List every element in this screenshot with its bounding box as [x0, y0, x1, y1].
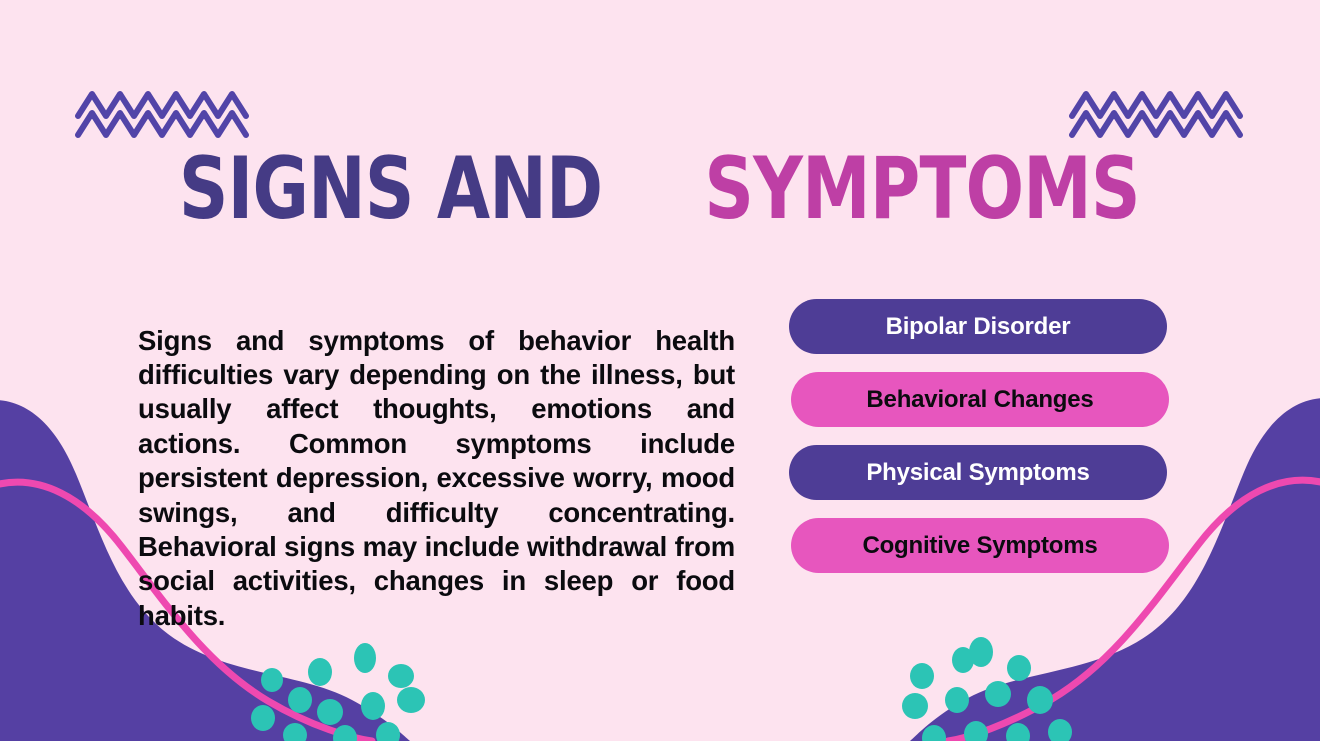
pill-behavioral-changes[interactable]: Behavioral Changes: [791, 372, 1169, 427]
body-paragraph: Signs and symptoms of behavior health di…: [138, 324, 735, 668]
pill-label: Cognitive Symptoms: [862, 532, 1097, 560]
symptom-pill-list: Bipolar Disorder Behavioral Changes Phys…: [789, 299, 1181, 591]
pill-physical-symptoms[interactable]: Physical Symptoms: [789, 445, 1167, 500]
pill-label: Physical Symptoms: [866, 459, 1089, 487]
page-title: SIGNS ANDSYMPTOMS: [0, 146, 1320, 232]
slide-content: SIGNS ANDSYMPTOMS Signs and symptoms of …: [0, 0, 1320, 741]
title-part-two: SYMPTOMS: [704, 146, 1139, 232]
title-part-one: SIGNS AND: [179, 146, 602, 232]
slide-canvas: SIGNS ANDSYMPTOMS Signs and symptoms of …: [0, 0, 1320, 741]
pill-label: Behavioral Changes: [866, 386, 1093, 414]
pill-bipolar-disorder[interactable]: Bipolar Disorder: [789, 299, 1167, 354]
pill-label: Bipolar Disorder: [886, 313, 1071, 341]
pill-cognitive-symptoms[interactable]: Cognitive Symptoms: [791, 518, 1169, 573]
